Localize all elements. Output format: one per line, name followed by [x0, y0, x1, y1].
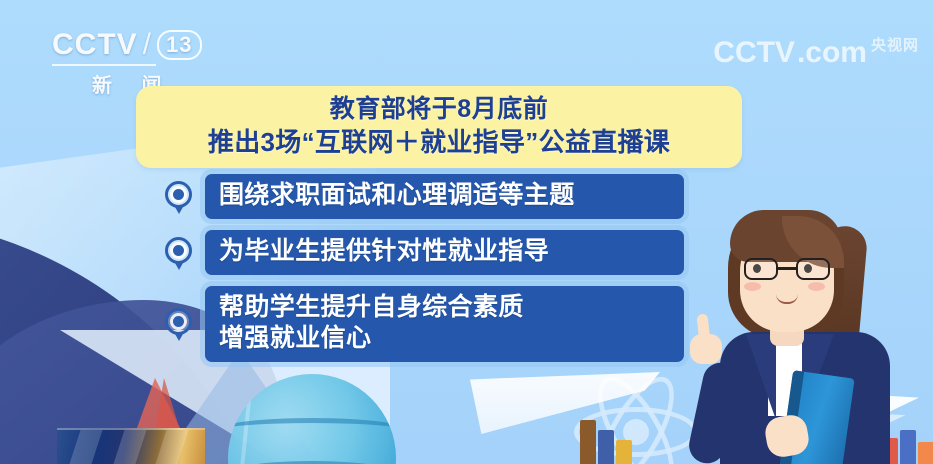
watermark-site: CCTV [713, 38, 795, 68]
bullet-list: 围绕求职面试和心理调适等主题 为毕业生提供针对性就业指导 帮助学生提升自身综合素… [164, 174, 684, 373]
marker-tail [175, 263, 183, 270]
book-spine [598, 430, 614, 464]
glasses-lens-left [744, 258, 778, 280]
watermark-domain: .com [797, 38, 867, 68]
bullet-bar-3: 帮助学生提升自身综合素质 增强就业信心 [205, 286, 684, 362]
watermark-site-cn: 央视网 [871, 38, 919, 53]
location-target-icon [164, 236, 194, 270]
inset-streak [113, 430, 146, 464]
headline-line-1: 教育部将于8月底前 [152, 95, 726, 125]
bullet-item-1: 围绕求职面试和心理调适等主题 [164, 174, 684, 219]
marker-tail [175, 334, 183, 341]
cheek-blush-right [808, 282, 825, 291]
inset-streak [69, 430, 102, 464]
bullet-text-3-line-2: 增强就业信心 [219, 323, 670, 354]
hand-pointing-up [686, 314, 726, 362]
site-watermark: CCTV .com 央视网 [713, 38, 919, 68]
marker-inner-dot [173, 316, 184, 327]
marker-inner-dot [173, 245, 184, 256]
location-target-icon [164, 180, 194, 214]
blazer-lapel-left [746, 334, 776, 420]
bullet-bar-1: 围绕求职面试和心理调适等主题 [205, 174, 684, 219]
corner-video-inset [57, 428, 205, 464]
channel-logo-top: CCTV / 13 [52, 30, 202, 60]
globe-latitude-line [228, 418, 396, 448]
bullet-text-1: 围绕求职面试和心理调适等主题 [219, 180, 670, 211]
index-finger [696, 314, 710, 345]
marker-inner-dot [173, 189, 184, 200]
teacher-illustration [690, 202, 933, 464]
logo-slash: / [143, 30, 152, 60]
glasses-lens-right [796, 258, 830, 280]
book-stack-middle [580, 416, 632, 464]
network-name: CCTV [52, 30, 138, 60]
book-spine [580, 420, 596, 464]
headline-banner: 教育部将于8月底前 推出3场“互联网＋就业指导”公益直播课 [136, 86, 742, 168]
location-target-icon [164, 307, 194, 341]
channel-number: 13 [157, 30, 201, 60]
cheek-blush-left [744, 282, 761, 291]
bullet-bar-2: 为毕业生提供针对性就业指导 [205, 230, 684, 275]
glasses-icon [744, 258, 830, 280]
glasses-bridge [778, 267, 796, 270]
bullet-item-3: 帮助学生提升自身综合素质 增强就业信心 [164, 286, 684, 362]
bullet-text-2: 为毕业生提供针对性就业指导 [219, 236, 670, 267]
broadcast-graphic: CCTV / 13 新 闻 CCTV .com 央视网 教育部将于8月底前 推出… [0, 0, 933, 464]
book-spine [616, 440, 632, 464]
bullet-item-2: 为毕业生提供针对性就业指导 [164, 230, 684, 275]
inset-streak [155, 430, 188, 464]
logo-divider [52, 64, 156, 66]
marker-tail [175, 207, 183, 214]
headline-line-2: 推出3场“互联网＋就业指导”公益直播课 [152, 127, 726, 158]
bullet-text-3-line-1: 帮助学生提升自身综合素质 [219, 292, 670, 323]
